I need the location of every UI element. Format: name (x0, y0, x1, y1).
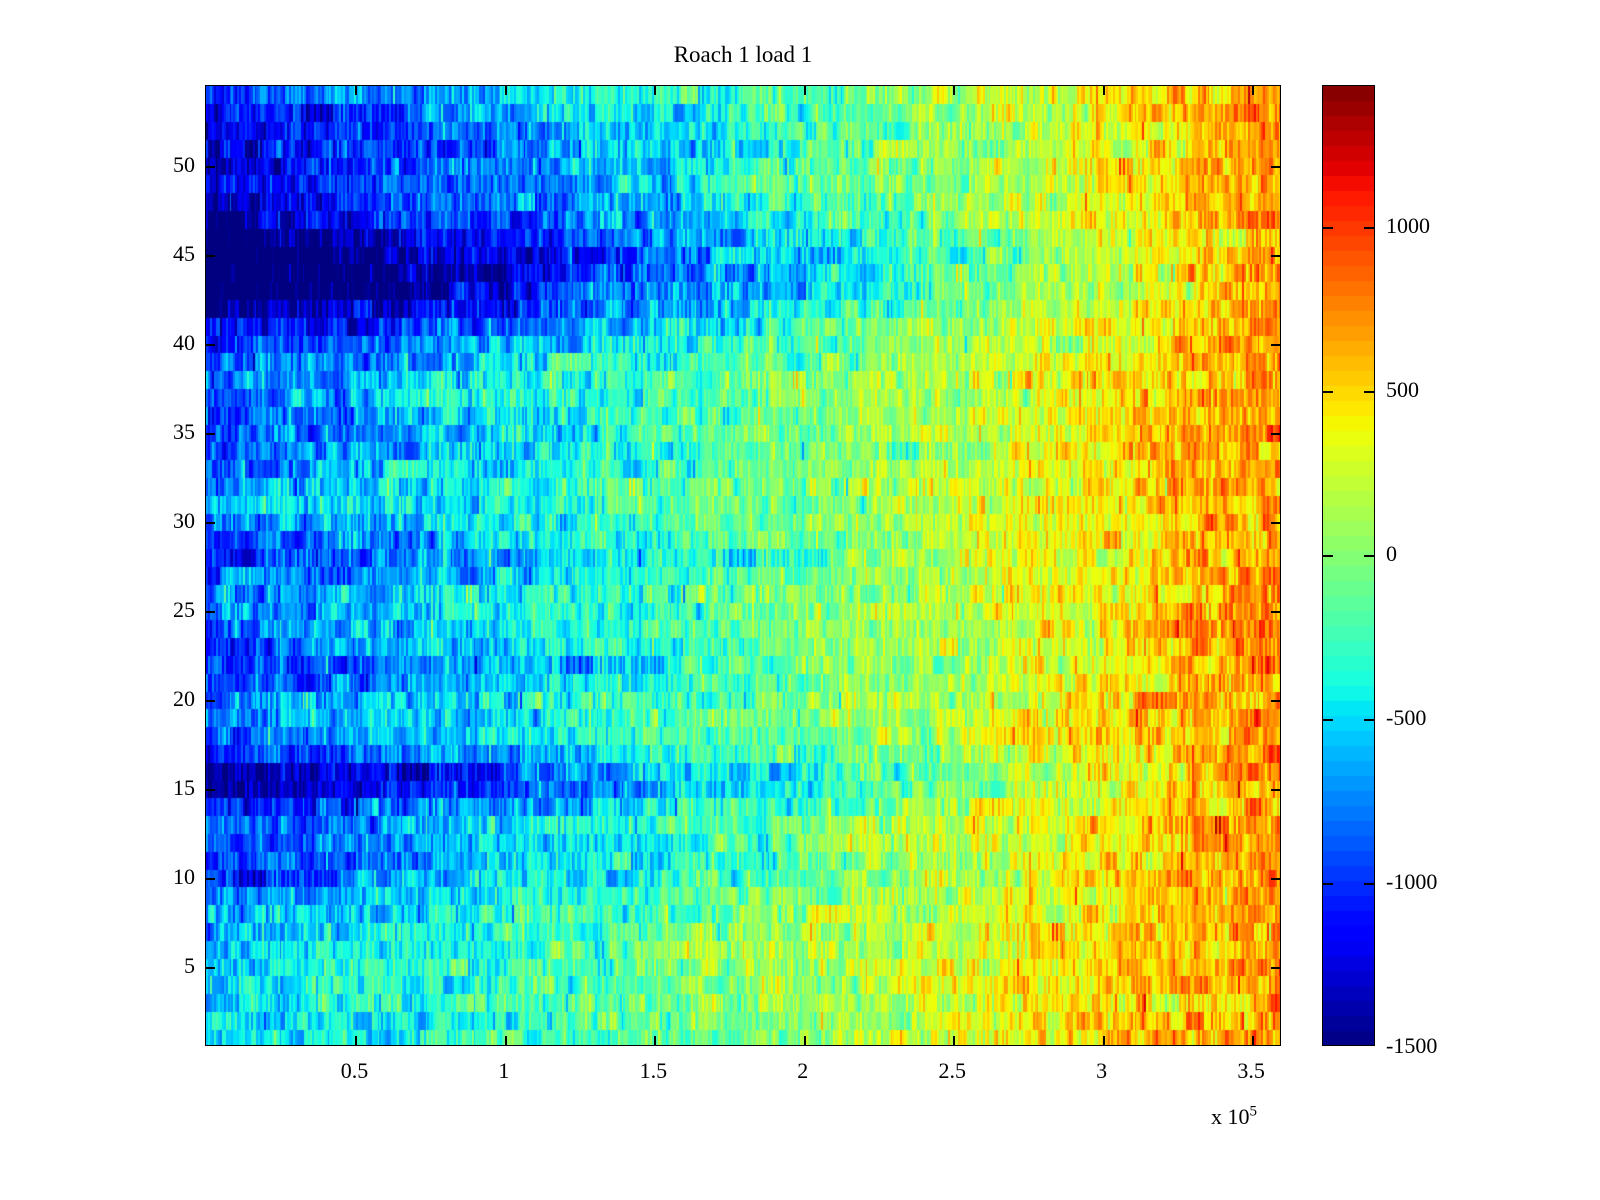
heatmap-axes[interactable] (205, 85, 1281, 1046)
colorbar-tick-mark-right (1364, 555, 1375, 557)
y-tick-label: 50 (135, 154, 195, 176)
x-tick-mark-top (1103, 85, 1105, 95)
x-tick-mark-top (505, 85, 507, 95)
x-tick-label: 3.5 (1206, 1060, 1296, 1082)
x-tick-mark-top (804, 85, 806, 95)
y-tick-mark-right (1271, 255, 1281, 257)
y-tick-label: 30 (135, 510, 195, 532)
x-tick-mark (1252, 1036, 1254, 1046)
y-tick-mark-right (1271, 700, 1281, 702)
colorbar-tick-mark-left (1322, 391, 1333, 393)
y-tick-mark (205, 255, 215, 257)
colorbar-tick-label: -500 (1386, 707, 1426, 729)
x-tick-label: 2.5 (907, 1060, 997, 1082)
y-tick-mark-right (1271, 967, 1281, 969)
y-tick-mark (205, 967, 215, 969)
colorbar-tick-mark-left (1322, 719, 1333, 721)
x-tick-mark (505, 1036, 507, 1046)
y-tick-mark (205, 433, 215, 435)
x-tick-label: 0.5 (309, 1060, 399, 1082)
colorbar-tick-label: 0 (1386, 543, 1397, 565)
x-tick-mark-top (953, 85, 955, 95)
colorbar-tick-mark-right (1364, 719, 1375, 721)
colorbar-tick-label: -1000 (1386, 871, 1437, 893)
x-tick-mark (654, 1036, 656, 1046)
x-tick-label: 1.5 (608, 1060, 698, 1082)
colorbar-gradient (1323, 86, 1375, 1046)
x-tick-label: 1 (459, 1060, 549, 1082)
colorbar-tick-mark-left (1322, 883, 1333, 885)
y-tick-mark-right (1271, 789, 1281, 791)
y-tick-mark (205, 611, 215, 613)
x-exponent-base: x 10 (1211, 1104, 1250, 1129)
colorbar-tick-mark-right (1364, 391, 1375, 393)
y-tick-mark (205, 700, 215, 702)
colorbar-tick-label: -1500 (1386, 1035, 1437, 1057)
x-exponent-power: 5 (1250, 1104, 1258, 1120)
x-tick-mark (804, 1036, 806, 1046)
y-tick-mark-right (1271, 166, 1281, 168)
y-tick-mark (205, 522, 215, 524)
y-tick-mark-right (1271, 522, 1281, 524)
colorbar-tick-mark-left (1322, 555, 1333, 557)
matlab-figure-window: Roach 1 load 1 5101520253035404550 0.511… (0, 0, 1600, 1200)
y-tick-label: 5 (135, 955, 195, 977)
x-tick-mark-top (654, 85, 656, 95)
page-title: Roach 1 load 1 (205, 42, 1281, 68)
colorbar-tick-mark-left (1322, 227, 1333, 229)
y-tick-mark-right (1271, 611, 1281, 613)
y-tick-mark (205, 166, 215, 168)
y-tick-label: 40 (135, 332, 195, 354)
y-tick-label: 20 (135, 688, 195, 710)
x-tick-mark (355, 1036, 357, 1046)
y-tick-label: 10 (135, 866, 195, 888)
colorbar[interactable] (1322, 85, 1375, 1046)
x-axis-exponent-label: x 105 (1211, 1106, 1257, 1128)
y-tick-mark-right (1271, 433, 1281, 435)
y-tick-mark-right (1271, 878, 1281, 880)
y-tick-mark-right (1271, 344, 1281, 346)
heatmap-image (206, 86, 1281, 1046)
x-tick-mark-top (1252, 85, 1254, 95)
colorbar-tick-mark-right (1364, 883, 1375, 885)
y-tick-mark (205, 344, 215, 346)
y-tick-mark (205, 878, 215, 880)
colorbar-tick-label: 500 (1386, 379, 1419, 401)
x-tick-mark-top (355, 85, 357, 95)
y-tick-label: 35 (135, 421, 195, 443)
x-tick-label: 2 (758, 1060, 848, 1082)
y-tick-label: 25 (135, 599, 195, 621)
x-tick-mark (1103, 1036, 1105, 1046)
colorbar-tick-label: 1000 (1386, 215, 1430, 237)
colorbar-tick-mark-right (1364, 227, 1375, 229)
x-tick-label: 3 (1057, 1060, 1147, 1082)
y-tick-label: 45 (135, 243, 195, 265)
y-tick-label: 15 (135, 777, 195, 799)
y-tick-mark (205, 789, 215, 791)
x-tick-mark (953, 1036, 955, 1046)
